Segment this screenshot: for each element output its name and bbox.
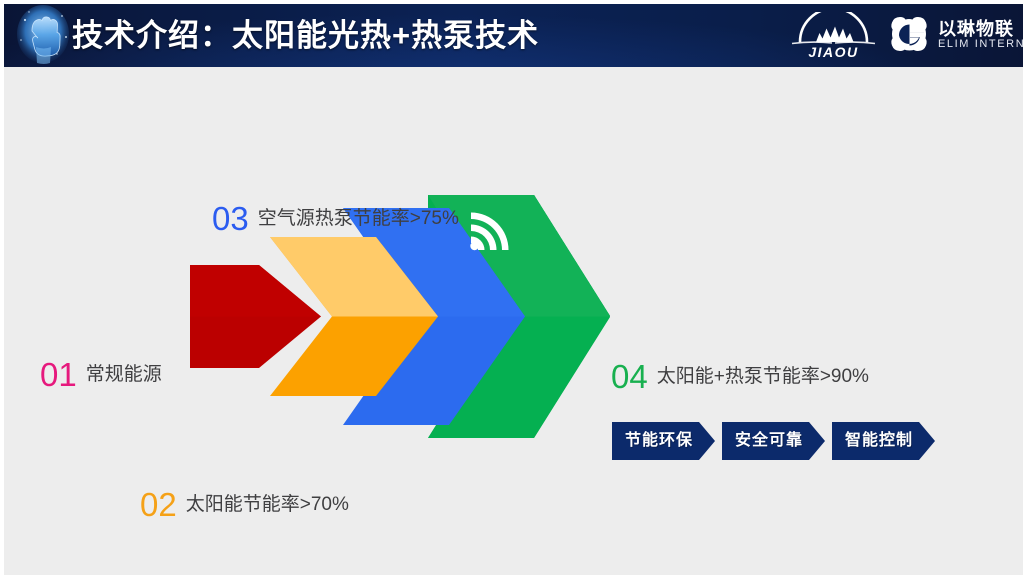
slide-header: 技术介绍：太阳能光热+热泵技术 JIAOU 以琳物联 ELIM INTERNET	[4, 4, 1027, 67]
step-label-01: 01常规能源	[40, 358, 162, 391]
elim-logo-en: ELIM INTERNET	[938, 38, 1027, 50]
jiaou-logo: JIAOU	[786, 12, 881, 60]
chevron-diagram: 01常规能源 02太阳能节能率>70% 03空气源热泵节能率>75% 04太阳能…	[4, 67, 1027, 579]
page-title: 技术介绍：太阳能光热+热泵技术	[72, 11, 539, 61]
badge-energy-saving: 节能环保	[612, 422, 715, 460]
step-label-03: 03空气源热泵节能率>75%	[212, 202, 459, 235]
step-label-02: 02太阳能节能率>70%	[140, 488, 349, 521]
slide: 技术介绍：太阳能光热+热泵技术 JIAOU 以琳物联 ELIM INTERNET	[0, 0, 1027, 579]
step-number-03: 03	[212, 200, 249, 237]
step-number-02: 02	[140, 486, 177, 523]
jiaou-logo-text: JIAOU	[786, 44, 881, 60]
elim-logo: 以琳物联 ELIM INTERNET	[888, 14, 1019, 58]
step-text-04: 太阳能+热泵节能率>90%	[657, 366, 869, 387]
step-label-04: 04太阳能+热泵节能率>90%	[611, 360, 869, 393]
sunrise-arc-icon	[786, 12, 881, 46]
step-number-04: 04	[611, 358, 648, 395]
badge-smart-control: 智能控制	[832, 422, 935, 460]
step-text-03: 空气源热泵节能率>75%	[258, 208, 459, 229]
step-number-01: 01	[40, 356, 77, 393]
raised-fist-icon	[12, 4, 74, 67]
step-text-01: 常规能源	[86, 364, 162, 385]
step-text-02: 太阳能节能率>70%	[186, 494, 349, 515]
hex-g-icon	[888, 15, 930, 57]
badge-safe-reliable: 安全可靠	[722, 422, 825, 460]
